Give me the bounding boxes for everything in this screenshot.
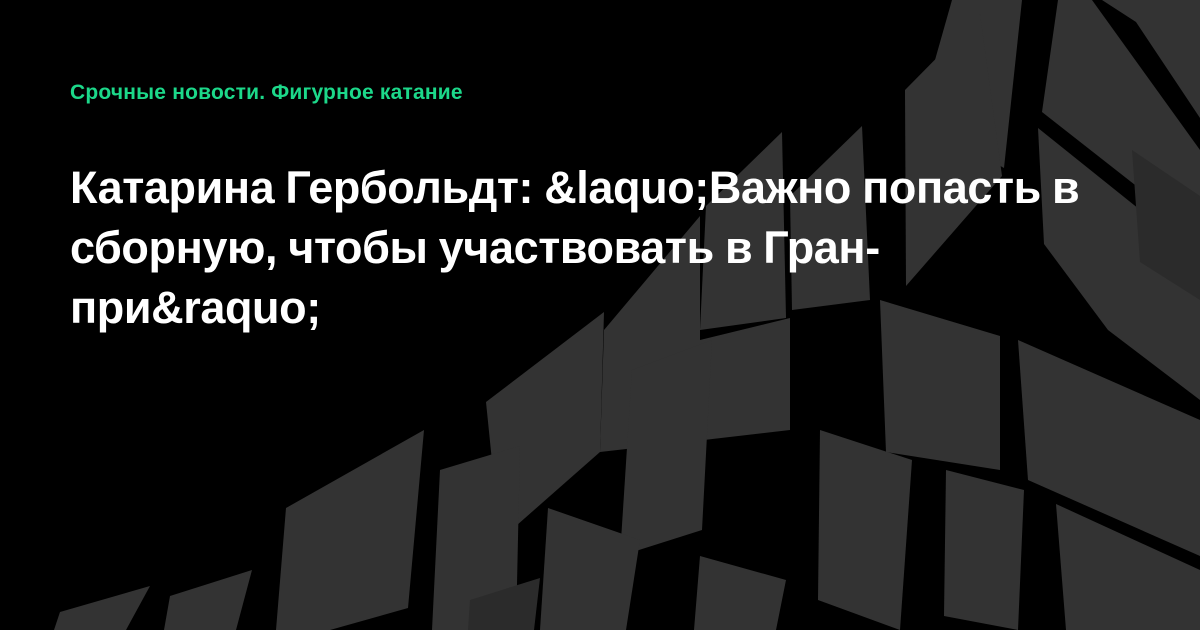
share-card: Срочные новости. Фигурное катание Катари… [0, 0, 1200, 630]
headline: Катарина Гербольдт: &laquo;Важно попасть… [70, 158, 1100, 338]
kicker-label: Срочные новости. Фигурное катание [70, 79, 463, 107]
card-content: Срочные новости. Фигурное катание Катари… [0, 0, 1200, 630]
